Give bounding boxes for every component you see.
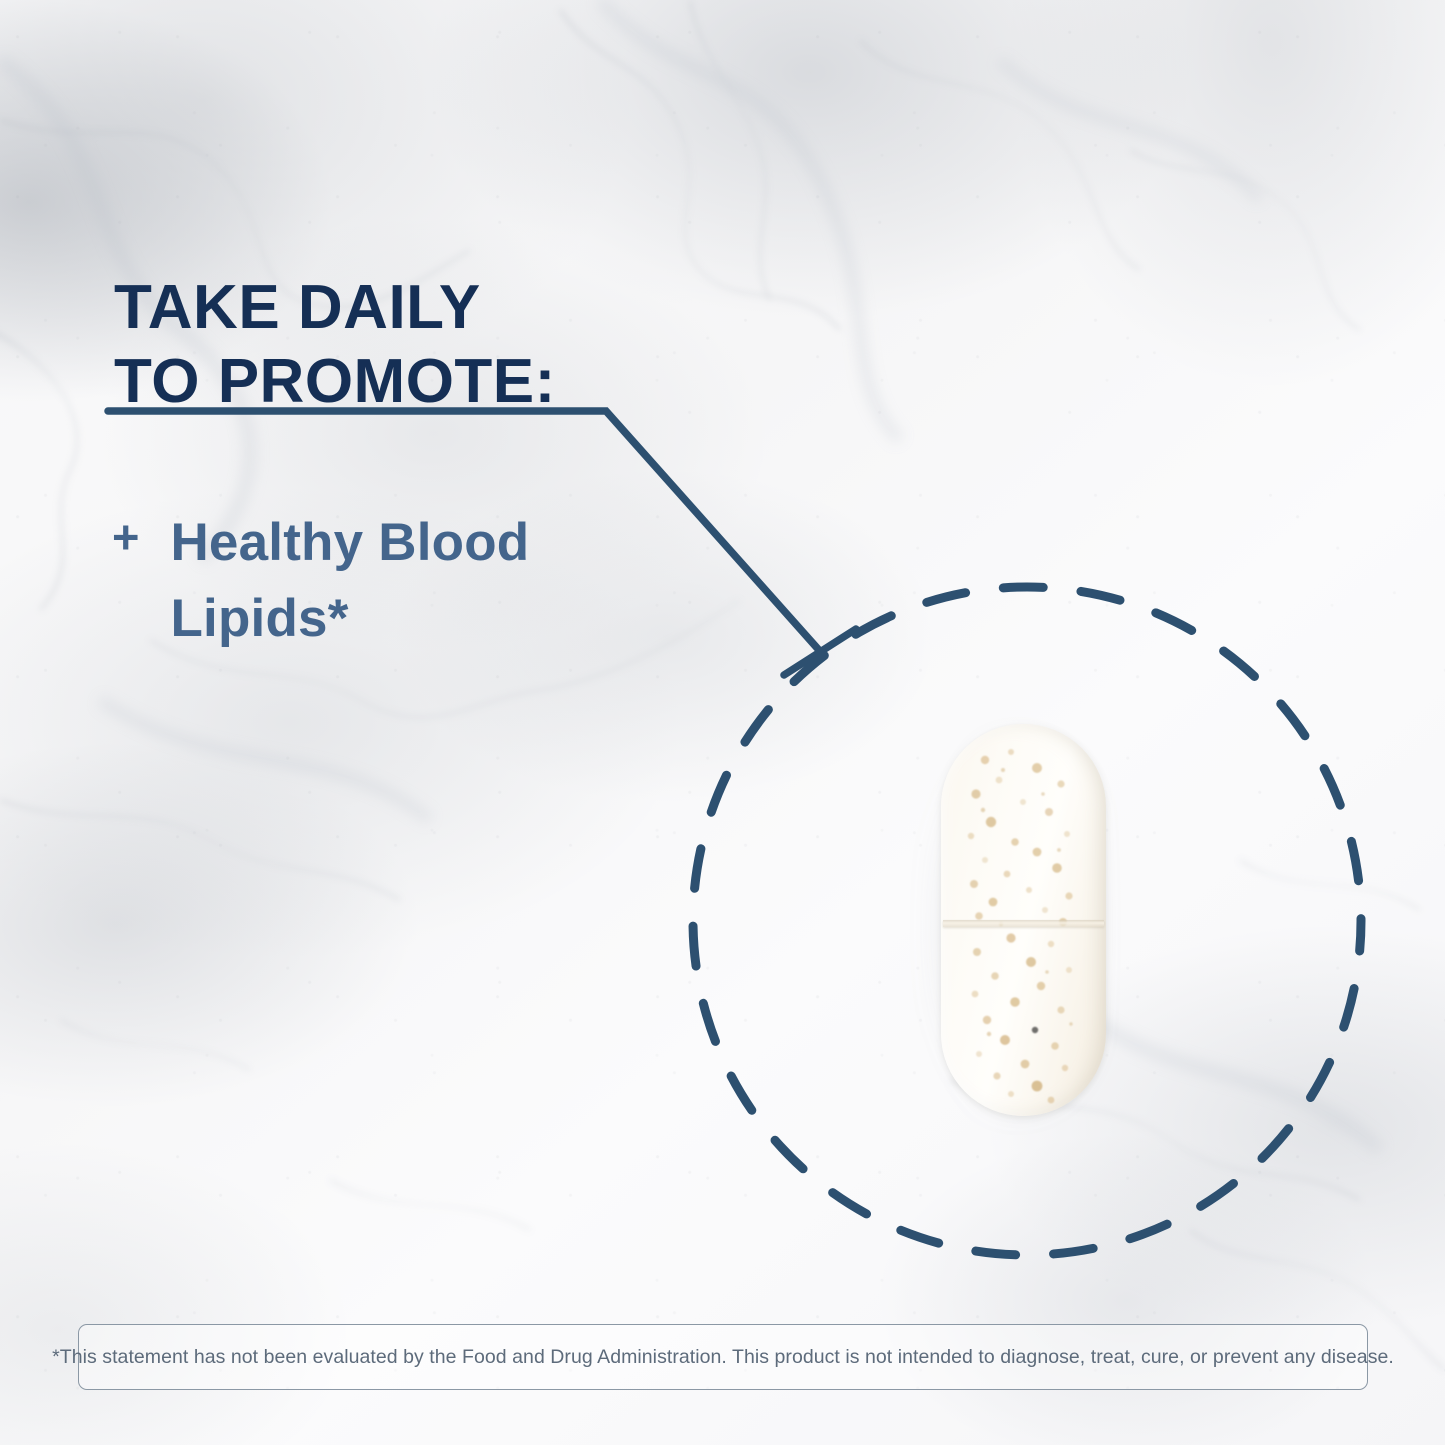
page-title-line-2: TO PROMOTE:	[114, 345, 874, 419]
page-title-line-1: TAKE DAILY	[114, 271, 874, 345]
supplement-caplet	[941, 724, 1106, 1116]
benefit-item-0: + Healthy Blood Lipids*	[112, 505, 732, 657]
page-title: TAKE DAILY TO PROMOTE:	[114, 271, 874, 419]
plus-icon: +	[112, 505, 139, 566]
caplet-body	[941, 724, 1106, 1116]
caplet-score-line	[943, 920, 1104, 927]
fda-disclaimer-text: *This statement has not been evaluated b…	[52, 1344, 1394, 1370]
fda-disclaimer-box: *This statement has not been evaluated b…	[78, 1324, 1368, 1390]
marble-grain-overlay	[0, 0, 1445, 1445]
product-benefit-graphic: TAKE DAILY TO PROMOTE: + Healthy Blood L…	[0, 0, 1445, 1445]
benefit-label-line-2: Lipids*	[170, 589, 348, 648]
benefit-label-line-1: Healthy Blood	[170, 513, 529, 572]
benefit-label: Healthy Blood Lipids*	[170, 505, 529, 657]
